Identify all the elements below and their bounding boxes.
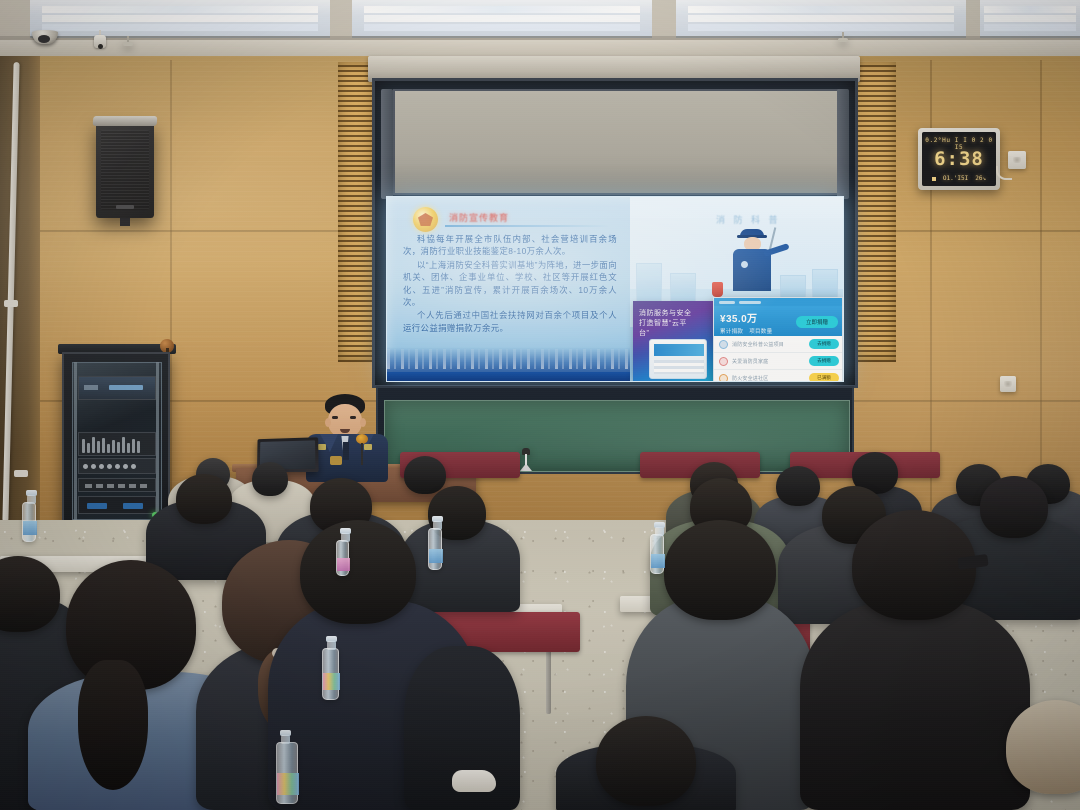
lecture-hall-photo: 0.2°Hu I I 0 2 0 I5 6:38 O1.'I5I 26↘ 消防宣…: [0, 0, 1080, 810]
shoulder-badge-icon: [741, 261, 748, 268]
desk-microphone: [519, 448, 533, 474]
slide-text-column: 消防宣传教育 科協每年开展全市队伍内部、社会营培训百余场次，消防行业职业技能鉴定…: [387, 197, 630, 381]
presentation-slide: 消防宣传教育 科協每年开展全市队伍内部、社会营培训百余场次，消防行业职业技能鉴定…: [386, 196, 844, 382]
slide-title: 消防宣传教育: [449, 211, 569, 222]
mixer-fader[interactable]: [97, 441, 100, 453]
mixer-fader[interactable]: [122, 437, 125, 453]
slide-body-text: 科協每年开展全市队伍内部、社会营培训百余场次，消防行业职业技能鉴定8-10万余人…: [403, 233, 617, 335]
speaker-logo: [116, 205, 134, 209]
poster-phone-mockup: [649, 339, 707, 379]
water-bottle[interactable]: [650, 534, 664, 574]
rack-door-hinge: [74, 362, 77, 520]
wall-seam: [170, 60, 172, 530]
exhibition-booth: [670, 273, 696, 303]
rack-door-handle[interactable]: [156, 362, 159, 520]
clock-time: 6:38: [922, 148, 996, 170]
slide-paragraph: 科協每年开展全市队伍内部、社会营培训百余场次，消防行业职业技能鉴定8-10万余人…: [403, 233, 617, 258]
app-sub-label: 累计捐款: [720, 327, 743, 335]
mixer-knob[interactable]: [107, 464, 112, 469]
bottle-label: [277, 773, 299, 795]
shoulder-insignia-icon: [318, 444, 326, 450]
ear: [325, 418, 331, 427]
bottle-neck: [327, 641, 336, 650]
list-item-label: 关爱消防员家庭: [732, 358, 805, 365]
wall-plate[interactable]: [1000, 376, 1016, 392]
slide-poster-graphic: 消防服务与安全打造智慧“云平台”: [633, 301, 725, 382]
mixer-fader[interactable]: [117, 442, 120, 453]
digital-wall-clock: 0.2°Hu I I 0 2 0 I5 6:38 O1.'I5I 26↘: [918, 128, 1000, 190]
conduit-clip: [14, 470, 28, 477]
water-bottle[interactable]: [22, 502, 36, 542]
screen-post-left: [381, 89, 393, 199]
microphone-neck: [525, 454, 527, 466]
app-sub-label: 项目数量: [749, 327, 772, 335]
ceiling-light-panel: [352, 0, 652, 38]
speaker-top-cap: [93, 116, 158, 126]
ceiling-light-panel: [30, 0, 330, 38]
audience-head: [404, 456, 446, 494]
water-bottle[interactable]: [276, 742, 298, 804]
audience-head: [776, 466, 820, 506]
speaker-grille: [101, 130, 149, 210]
bottle-neck: [341, 533, 350, 542]
rack-bottom-unit[interactable]: [78, 496, 156, 514]
red-fire-extinguisher-prop: [712, 282, 723, 297]
amplifier[interactable]: [78, 478, 156, 492]
clock-display: 0.2°Hu I I 0 2 0 I5 6:38 O1.'I5I 26↘: [922, 132, 996, 186]
mixer-fader[interactable]: [137, 441, 140, 453]
ear: [360, 418, 366, 427]
bullet-camera-icon: [94, 30, 106, 50]
screen-post-right: [837, 89, 849, 199]
status-bar-item: [719, 301, 735, 304]
slide-paragraph: 个人先后通过中国社会扶持网对百余个项目及个人运行公益捐赠捐款万余元。: [403, 309, 617, 334]
speaker-bracket: [120, 218, 130, 226]
app-header: ¥35.0万 累计捐款 项目数量 立即捐赠: [714, 306, 843, 336]
eye: [350, 416, 356, 419]
app-status-bar: [714, 298, 843, 306]
mixer-knob[interactable]: [131, 464, 136, 469]
wall-mounted-loudspeaker: [96, 122, 154, 218]
rack-control-panel[interactable]: [78, 376, 156, 400]
list-item-button[interactable]: 已满额: [809, 373, 839, 382]
mini-program-screenshot: ¥35.0万 累计捐款 项目数量 立即捐赠 消防安全科普公益项目 去捐赠 关爱消…: [713, 297, 843, 382]
clock-humidity: O1.'I5I: [943, 175, 968, 182]
audience-head: [252, 462, 288, 496]
sprinkler-icon: [123, 36, 133, 48]
mixer-knob[interactable]: [99, 464, 104, 469]
mixer-knob[interactable]: [123, 464, 128, 469]
mixer-fader[interactable]: [87, 443, 90, 453]
list-item-button[interactable]: 去捐赠: [809, 339, 839, 349]
mixer-fader[interactable]: [102, 438, 105, 453]
sprinkler-head: [123, 42, 133, 46]
fire-service-badge-icon: [413, 207, 438, 232]
app-subtitles: 累计捐款 项目数量: [720, 327, 838, 335]
mixer-fader[interactable]: [107, 444, 110, 453]
list-item-button[interactable]: 去捐赠: [809, 356, 839, 366]
bottle-label: [23, 521, 37, 535]
mixer-knob[interactable]: [115, 464, 120, 469]
ceiling-light-panel: [980, 0, 1080, 38]
retracted-blind: [393, 89, 841, 195]
mixer-fader[interactable]: [127, 443, 130, 453]
mixer-knob[interactable]: [83, 464, 88, 469]
project-icon: [719, 340, 728, 349]
instructor-in-blue-uniform: [730, 229, 774, 291]
eye: [332, 416, 338, 419]
mixer-fader[interactable]: [132, 439, 135, 453]
necktie: [343, 442, 349, 460]
list-item[interactable]: 防火安全进社区 已满额: [714, 370, 843, 382]
mixer-fader[interactable]: [82, 439, 85, 453]
mixer-knob-row[interactable]: [78, 458, 156, 474]
slide-paragraph: 以“上海消防安全科普实训基地”为阵地，进一步面向机关、团体、企事业单位、学校、社…: [403, 259, 617, 309]
conduit-clip: [4, 300, 18, 307]
sprinkler-head: [838, 38, 848, 42]
bottle-neck: [433, 521, 442, 530]
audio-mixer[interactable]: [78, 432, 156, 456]
list-item[interactable]: 消防安全科普公益项目 去捐赠: [714, 336, 843, 353]
list-item-label: 消防安全科普公益项目: [732, 341, 805, 348]
bottle-label: [337, 558, 350, 571]
backdrop-caption: 消 防 科 普: [716, 213, 836, 225]
bottle-label: [323, 673, 340, 690]
star-icon: [719, 374, 728, 383]
bottle-neck: [281, 735, 290, 744]
audience-head: [300, 520, 416, 624]
bottle-neck: [27, 495, 36, 504]
exhibition-booth: [636, 263, 662, 303]
water-bottle[interactable]: [322, 648, 339, 700]
heart-icon: [719, 357, 728, 366]
audience-member: [800, 600, 1030, 810]
water-bottle[interactable]: [428, 528, 442, 570]
slide-title-rule: [445, 225, 610, 227]
clock-readings: O1.'I5I 26↘: [922, 175, 996, 182]
donate-now-button[interactable]: 立即捐赠: [796, 316, 838, 328]
list-item[interactable]: 关爱消防员家庭 去捐赠: [714, 353, 843, 370]
list-item-label: 防火安全进社区: [732, 375, 805, 382]
wood-slat-panel-left: [338, 62, 374, 362]
bottle-label: [429, 549, 443, 563]
audience-head: [596, 716, 696, 806]
bottle-neck: [655, 527, 664, 536]
wood-slat-panel-right: [852, 62, 896, 362]
audience-head: [664, 520, 776, 620]
mixer-knob[interactable]: [91, 464, 96, 469]
water-bottle[interactable]: [336, 540, 349, 576]
clock-indicator-dot: [932, 177, 936, 181]
wall-seam: [1040, 60, 1042, 530]
microphone-base: [520, 465, 532, 471]
slide-bottom-bar: [387, 372, 630, 381]
microphone-stem: [361, 443, 363, 465]
clock-temperature: 26↘: [975, 175, 986, 182]
sprinkler-icon: [838, 32, 848, 44]
ceiling-light-panel: [676, 0, 966, 38]
bottle-label: [651, 554, 665, 568]
status-bar-item: [739, 301, 761, 304]
shoe: [452, 770, 496, 792]
audience-head: [980, 476, 1048, 538]
av-equipment-rack[interactable]: [62, 352, 170, 527]
chest-badge-icon: [330, 456, 342, 465]
podium-microphone: [356, 434, 368, 464]
mixer-fader[interactable]: [92, 437, 95, 453]
camera-lens: [98, 44, 103, 49]
poster-headline: 消防服务与安全打造智慧“云平台”: [639, 309, 695, 331]
long-hair: [78, 660, 148, 790]
mixer-fader[interactable]: [112, 440, 115, 453]
audience-head: [176, 474, 232, 524]
